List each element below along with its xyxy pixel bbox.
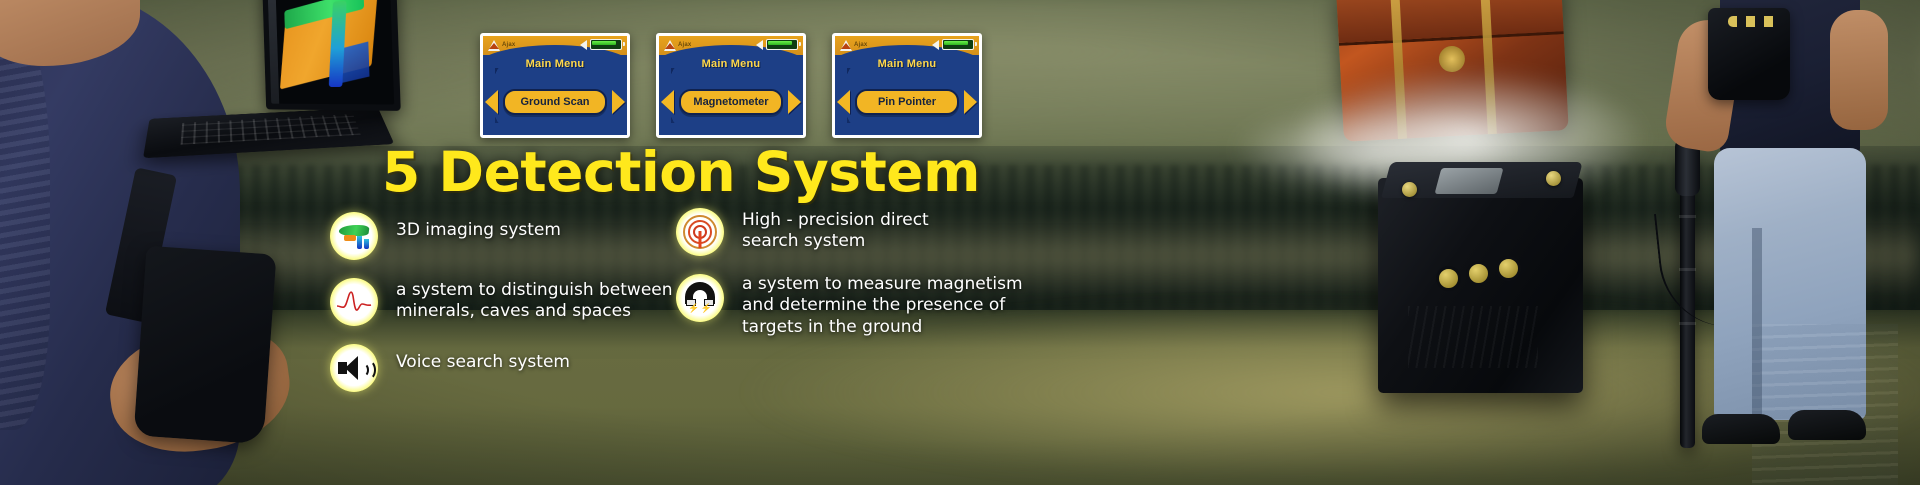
panel-title: Main Menu <box>659 58 803 70</box>
feature-label: High - precision direct search system <box>742 208 929 253</box>
device-panel-ground-scan[interactable]: Ajax Main Menu Ground Scan <box>480 33 630 138</box>
person-with-detector <box>1680 0 1920 485</box>
previous-arrow-icon[interactable] <box>485 90 498 114</box>
next-arrow-icon[interactable] <box>788 90 801 114</box>
shoulder-bag <box>134 246 277 445</box>
brand-logo-icon: Ajax <box>488 38 524 52</box>
person-shoe <box>1702 414 1780 444</box>
device-menu-panels: Ajax Main Menu Ground Scan Ajax <box>480 33 982 138</box>
battery-icon <box>766 39 798 50</box>
control-unit-knobs <box>1728 16 1780 27</box>
brand-logo-icon: Ajax <box>664 38 700 52</box>
panel-selector-row: Ground Scan <box>483 89 627 115</box>
previous-arrow-icon[interactable] <box>837 90 850 114</box>
waveform-icon <box>330 278 378 326</box>
device-panel-magnetometer[interactable]: Ajax Main Menu Magnetometer <box>656 33 806 138</box>
person-right-arm <box>1830 10 1888 130</box>
jeans-folds <box>1752 324 1898 485</box>
signal-target-icon <box>676 208 724 256</box>
detector-button <box>1496 256 1521 281</box>
detector-display <box>1435 168 1504 194</box>
panel-status-icons <box>580 39 622 50</box>
logo-triangle-icon <box>664 40 676 51</box>
logo-label: Ajax <box>678 42 691 48</box>
magnet-icon: ⚡⚡ <box>676 274 724 322</box>
feature-item-magnetism: ⚡⚡ a system to measure magnetism and det… <box>676 274 1296 338</box>
page-title: 5 Detection System <box>382 140 980 204</box>
laptop-lid <box>262 0 401 111</box>
feature-item-high-precision: High - precision direct search system <box>676 208 1296 256</box>
laptop-screen <box>268 0 395 105</box>
previous-arrow-icon[interactable] <box>661 90 674 114</box>
mode-button[interactable]: Magnetometer <box>679 89 783 115</box>
laptop <box>148 0 393 175</box>
panel-title: Main Menu <box>835 58 979 70</box>
laptop-keyboard-base <box>143 107 394 158</box>
person-jeans <box>1714 148 1866 420</box>
detector-button <box>1466 261 1491 286</box>
brand-logo-icon: Ajax <box>840 38 876 52</box>
detector-knob <box>1402 182 1417 197</box>
feature-list-right: High - precision direct search system ⚡⚡… <box>676 208 1296 356</box>
speaker-icon <box>580 40 587 50</box>
next-arrow-icon[interactable] <box>964 90 977 114</box>
feature-label: Voice search system <box>396 344 570 373</box>
mode-button[interactable]: Pin Pointer <box>855 89 959 115</box>
scan-plot-blue-area <box>341 41 370 82</box>
3d-graph-icon <box>330 212 378 260</box>
logo-triangle-icon <box>488 40 500 51</box>
person-shoe <box>1788 410 1866 440</box>
detector-vent <box>1408 306 1538 368</box>
speaker-icon <box>932 40 939 50</box>
detector-case <box>1378 178 1583 393</box>
laptop-keys <box>180 114 361 144</box>
waveform-glyph <box>336 289 372 315</box>
panel-selector-row: Pin Pointer <box>835 89 979 115</box>
panel-status-icons <box>756 39 798 50</box>
detector-knob <box>1546 171 1561 186</box>
battery-icon <box>590 39 622 50</box>
device-panel-pin-pointer[interactable]: Ajax Main Menu Pin Pointer <box>832 33 982 138</box>
logo-label: Ajax <box>502 42 515 48</box>
next-arrow-icon[interactable] <box>612 90 625 114</box>
panel-status-icons <box>932 39 974 50</box>
logo-label: Ajax <box>854 42 867 48</box>
jeans-seam <box>1752 228 1762 424</box>
panel-title: Main Menu <box>483 58 627 70</box>
speaker-icon <box>330 344 378 392</box>
feature-label: a system to distinguish between minerals… <box>396 278 673 323</box>
promo-banner: Ajax Main Menu Ground Scan Ajax <box>0 0 1920 485</box>
software-sidebar <box>268 0 280 104</box>
mode-button[interactable]: Ground Scan <box>503 89 607 115</box>
detector-button <box>1436 266 1461 291</box>
feature-label: a system to measure magnetism and determ… <box>742 274 1023 338</box>
logo-triangle-icon <box>840 40 852 51</box>
battery-icon <box>942 39 974 50</box>
feature-label: 3D imaging system <box>396 212 561 241</box>
panel-selector-row: Magnetometer <box>659 89 803 115</box>
speaker-icon <box>756 40 763 50</box>
